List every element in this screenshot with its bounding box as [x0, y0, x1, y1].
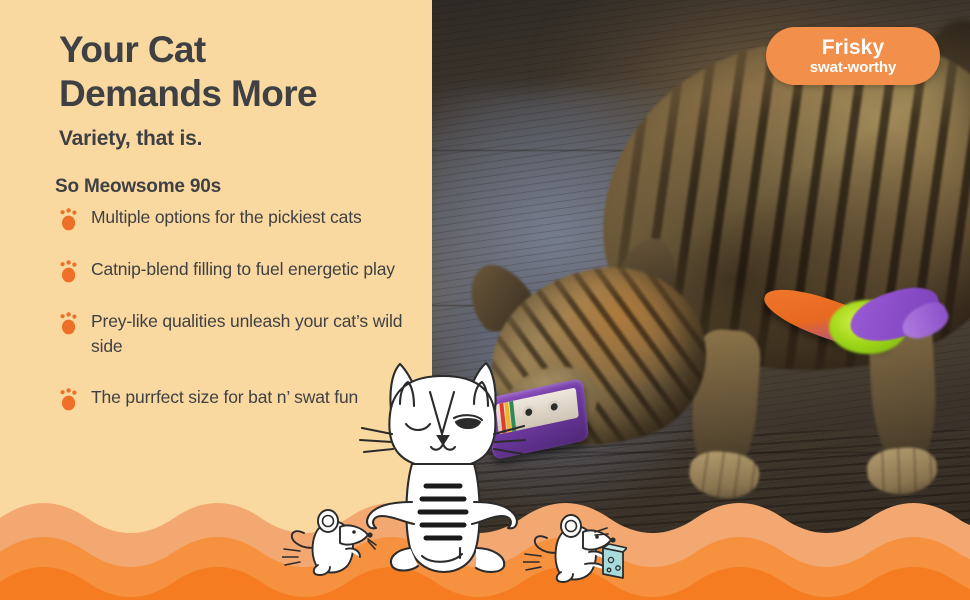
headline-line-2: Demands More [59, 72, 419, 116]
mouse-whisker [595, 528, 607, 532]
section-title: So Meowsome 90s [55, 176, 221, 198]
headline-line-1: Your Cat [59, 28, 419, 72]
doodle-mouse-right [523, 508, 627, 584]
mouse-eye [352, 530, 356, 534]
motion-line [525, 554, 541, 556]
motion-line [284, 549, 300, 551]
paw-print-icon [58, 312, 80, 336]
mouse-whisker [595, 534, 608, 535]
ad-banner: Your Cat Demands More Variety, that is. … [0, 0, 970, 600]
doodle-cat-whisker [494, 449, 523, 454]
doodle-cat-whisker [495, 440, 526, 442]
list-item: Multiple options for the pickiest cats [55, 205, 415, 230]
motion-line [285, 562, 300, 565]
doodle-mouse-left [282, 505, 378, 577]
subheadline: Variety, that is. [59, 127, 202, 151]
mouse-head [340, 525, 368, 544]
page-title: Your Cat Demands More [59, 28, 419, 115]
paw-print-icon [58, 388, 80, 412]
list-item-label: Multiple options for the pickiest cats [91, 205, 415, 230]
doodle-cat-body [406, 464, 479, 572]
badge-title: Frisky [822, 37, 884, 58]
doodle-cat-whisker [360, 440, 392, 442]
doodle-cat-foot-right [476, 548, 504, 572]
doodle-cat-whisker [362, 428, 392, 434]
list-item-label: Catnip-blend filling to fuel energetic p… [91, 257, 415, 282]
motion-line [526, 567, 541, 570]
doodle-cat-eye-half [456, 419, 480, 428]
mouse-ear [318, 510, 338, 532]
paw-print-icon [58, 208, 80, 232]
paw-print-icon [58, 260, 80, 284]
status-badge: Frisky swat-worthy [766, 27, 940, 85]
cheese-wedge [603, 544, 627, 578]
mouse-nose [610, 537, 615, 542]
mouse-nose [367, 532, 372, 537]
doodle-cat-whisker [494, 426, 524, 434]
mouse-ear [561, 515, 581, 537]
list-item: Prey-like qualities unleash your cat’s w… [55, 309, 415, 359]
doodle-cat-whisker [364, 449, 393, 452]
badge-subtitle: swat-worthy [810, 60, 896, 75]
list-item: Catnip-blend filling to fuel energetic p… [55, 257, 415, 282]
list-item-label: Prey-like qualities unleash your cat’s w… [91, 309, 415, 359]
